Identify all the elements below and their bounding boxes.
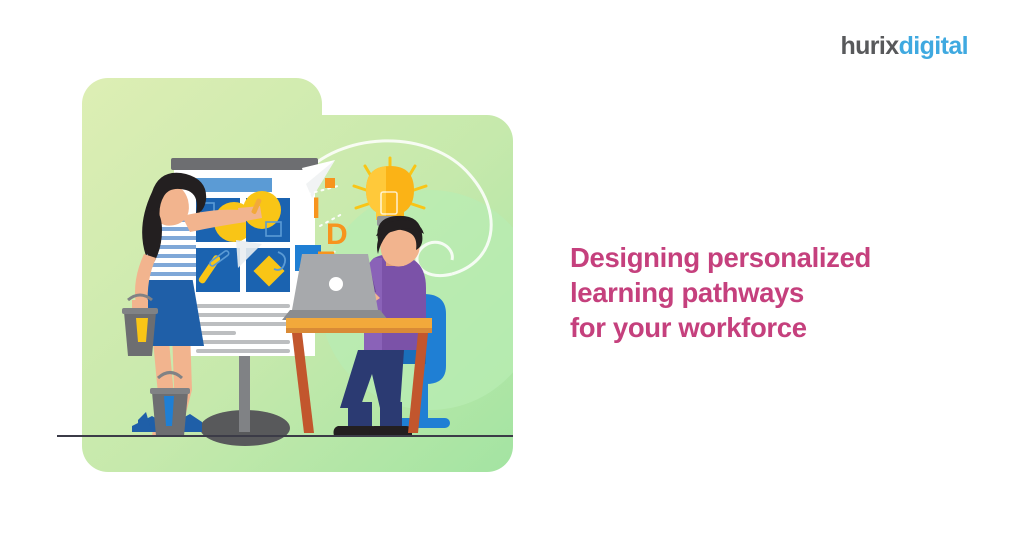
svg-text:I: I (312, 192, 320, 225)
headline-line-1: Designing personalized (570, 240, 970, 275)
hero-illustration: I D E A (0, 0, 560, 536)
headline-line-3: for your workforce (570, 310, 970, 345)
brand-logo[interactable]: hurixdigital (840, 34, 968, 59)
page-canvas: I D E A (0, 0, 1024, 536)
headline-line-2: learning pathways (570, 275, 970, 310)
page-title: Designing personalized learning pathways… (570, 240, 970, 346)
brand-name-primary: hurix (840, 32, 898, 60)
brand-name-secondary: digital (899, 32, 968, 60)
